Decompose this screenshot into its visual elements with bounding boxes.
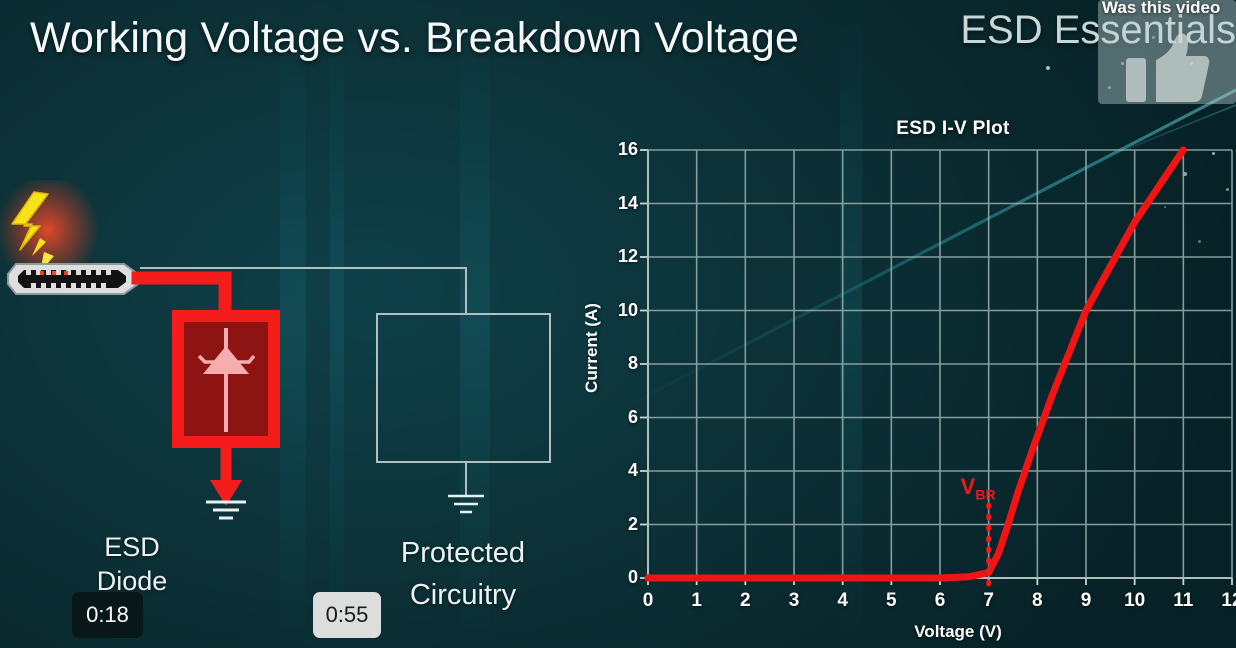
x-tick-label: 1 xyxy=(677,590,717,612)
circuit-diagram: ESD Diode Protected Circuitry xyxy=(0,180,600,550)
y-tick-label: 2 xyxy=(592,514,638,535)
y-tick-label: 6 xyxy=(592,407,638,428)
x-axis-label: Voltage (V) xyxy=(560,622,1236,642)
x-tick-label: 3 xyxy=(774,590,814,612)
page-title: Working Voltage vs. Breakdown Voltage xyxy=(30,14,799,63)
x-tick-label: 0 xyxy=(628,590,668,612)
plot-area xyxy=(560,108,1236,608)
protected-label-line2: Circuitry xyxy=(378,574,548,616)
y-tick-label: 12 xyxy=(592,246,638,267)
ground-symbol-icon-2 xyxy=(448,496,484,512)
y-tick-label: 0 xyxy=(592,567,638,588)
protected-circuitry-label: Protected Circuitry xyxy=(378,532,548,616)
y-tick-label: 14 xyxy=(592,193,638,214)
hdmi-connector-icon xyxy=(8,264,138,294)
vbr-label-main: V xyxy=(961,474,976,499)
x-tick-label: 12 xyxy=(1212,590,1236,612)
esd-iv-chart: ESD I-V Plot Current (A) Voltage (V) 024… xyxy=(560,108,1236,648)
x-tick-label: 6 xyxy=(920,590,960,612)
total-time-badge[interactable]: 0:55 xyxy=(313,592,381,638)
protected-label-line1: Protected xyxy=(378,532,548,574)
esd-diode-component xyxy=(178,316,274,442)
like-prompt-text: Was this video xyxy=(1102,0,1236,18)
current-time-badge[interactable]: 0:18 xyxy=(72,592,143,638)
x-tick-label: 9 xyxy=(1066,590,1106,612)
breakdown-voltage-label: VBR xyxy=(961,474,996,502)
y-tick-label: 10 xyxy=(592,300,638,321)
y-tick-label: 4 xyxy=(592,460,638,481)
thumbs-up-icon[interactable] xyxy=(1126,32,1210,104)
x-tick-label: 4 xyxy=(823,590,863,612)
esd-diode-label: ESD Diode xyxy=(78,530,186,598)
gridlines xyxy=(648,150,1232,578)
like-prompt-popup[interactable]: Was this video xyxy=(1098,0,1236,104)
x-tick-label: 2 xyxy=(725,590,765,612)
x-tick-label: 5 xyxy=(871,590,911,612)
vbr-label-sub: BR xyxy=(975,486,995,502)
y-tick-label: 16 xyxy=(592,139,638,160)
x-tick-label: 11 xyxy=(1163,590,1203,612)
y-tick-label: 8 xyxy=(592,353,638,374)
esd-diode-label-line1: ESD xyxy=(78,530,186,564)
x-tick-label: 10 xyxy=(1115,590,1155,612)
protected-circuitry-component xyxy=(377,314,550,512)
x-tick-label: 8 xyxy=(1017,590,1057,612)
x-tick-label: 7 xyxy=(969,590,1009,612)
